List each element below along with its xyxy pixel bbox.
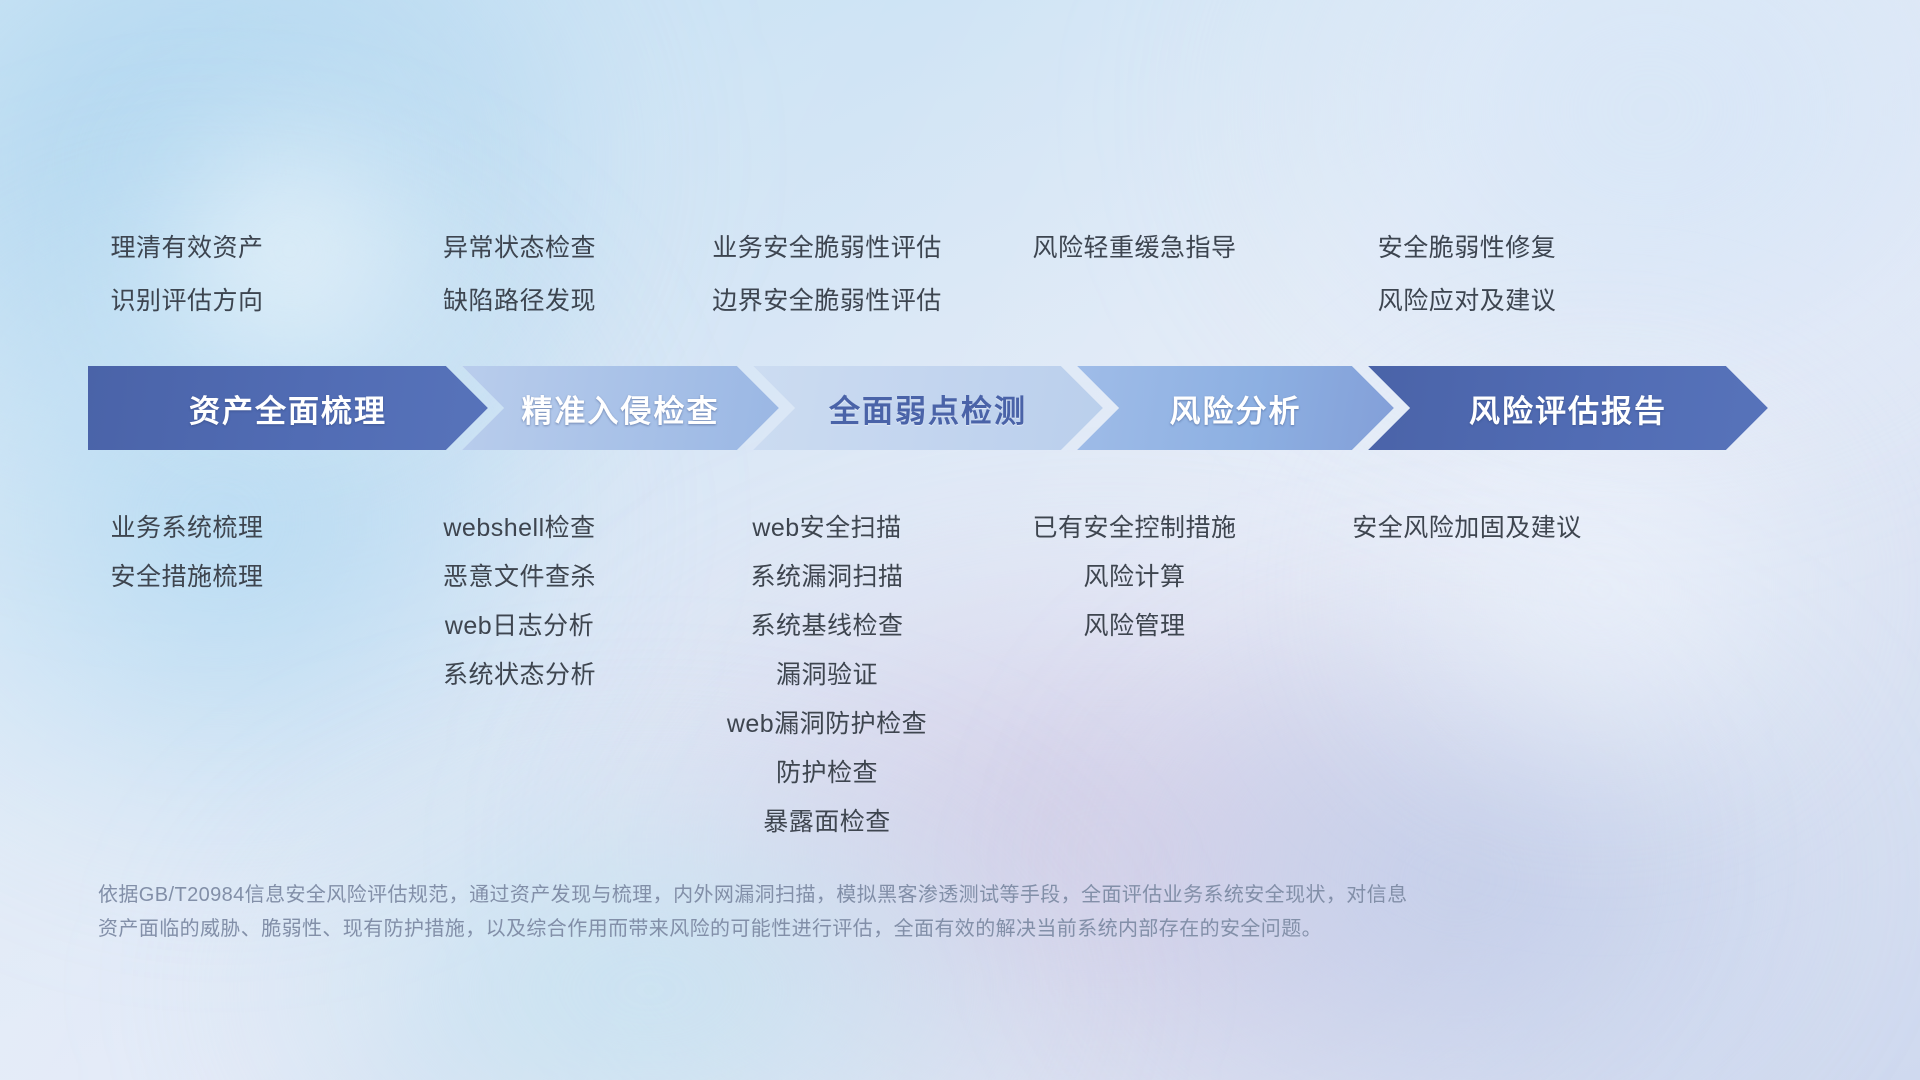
bottom-item: 安全措施梳理 — [0, 565, 374, 590]
process-diagram: 理清有效资产 识别评估方向 异常状态检查 缺陷路径发现 业务安全脆弱性评估 边界… — [0, 0, 1920, 1080]
bottom-item: 安全风险加固及建议 — [1280, 516, 1654, 541]
top-item: 风险应对及建议 — [1280, 289, 1654, 314]
bottom-items-risk-analysis: 已有安全控制措施 风险计算 风险管理 — [989, 516, 1280, 663]
bottom-item: 业务系统梳理 — [0, 516, 374, 541]
top-items-weakness-detection: 业务安全脆弱性评估 边界安全脆弱性评估 — [665, 236, 989, 342]
stage-arrow-asset-inventory[interactable]: 资产全面梳理 — [88, 366, 488, 450]
stage-arrow-band: 资产全面梳理 精准入侵检查 全面弱点检测 风险分析 风险评估报告 — [88, 366, 1850, 450]
top-item: 安全脆弱性修复 — [1280, 236, 1654, 261]
bottom-item: 系统基线检查 — [665, 614, 989, 639]
stage-arrow-label: 精准入侵检查 — [522, 386, 720, 431]
bottom-item: 漏洞验证 — [665, 663, 989, 688]
stage-arrow-risk-analysis[interactable]: 风险分析 — [1077, 366, 1394, 450]
stage-arrow-label: 风险分析 — [1170, 386, 1302, 431]
bottom-item: 风险计算 — [989, 565, 1280, 590]
top-items-risk-analysis: 风险轻重缓急指导 — [989, 236, 1280, 342]
bottom-item: 防护检查 — [665, 761, 989, 786]
footer-description: 依据GB/T20984信息安全风险评估规范，通过资产发现与梳理，内外网漏洞扫描，… — [98, 878, 1638, 946]
bottom-item: 风险管理 — [989, 614, 1280, 639]
bottom-items-weakness-detection: web安全扫描 系统漏洞扫描 系统基线检查 漏洞验证 web漏洞防护检查 防护检… — [665, 516, 989, 859]
top-item: 业务安全脆弱性评估 — [665, 236, 989, 261]
top-item: 理清有效资产 — [0, 236, 374, 261]
top-items-asset-inventory: 理清有效资产 识别评估方向 — [0, 236, 374, 342]
bottom-item: webshell检查 — [374, 516, 665, 541]
bottom-items-asset-inventory: 业务系统梳理 安全措施梳理 — [0, 516, 374, 614]
bottom-item: 暴露面检查 — [665, 810, 989, 835]
bottom-item: 系统状态分析 — [374, 663, 665, 688]
bottom-item: web漏洞防护检查 — [665, 712, 989, 737]
stage-arrow-label: 全面弱点检测 — [829, 386, 1027, 431]
bottom-item: web日志分析 — [374, 614, 665, 639]
bottom-items-row: 业务系统梳理 安全措施梳理 webshell检查 恶意文件查杀 web日志分析 … — [0, 516, 1920, 859]
top-item: 风险轻重缓急指导 — [989, 236, 1280, 261]
bottom-item: 已有安全控制措施 — [989, 516, 1280, 541]
top-item: 边界安全脆弱性评估 — [665, 289, 989, 314]
bottom-item: web安全扫描 — [665, 516, 989, 541]
bottom-items-intrusion-check: webshell检查 恶意文件查杀 web日志分析 系统状态分析 — [374, 516, 665, 712]
stage-arrow-risk-report[interactable]: 风险评估报告 — [1368, 366, 1768, 450]
top-item: 异常状态检查 — [374, 236, 665, 261]
bottom-item: 系统漏洞扫描 — [665, 565, 989, 590]
bottom-item: 恶意文件查杀 — [374, 565, 665, 590]
stage-arrow-label: 风险评估报告 — [1469, 386, 1667, 431]
footer-line: 依据GB/T20984信息安全风险评估规范，通过资产发现与梳理，内外网漏洞扫描，… — [98, 878, 1638, 912]
stage-arrow-label: 资产全面梳理 — [189, 386, 387, 431]
top-item: 识别评估方向 — [0, 289, 374, 314]
top-items-risk-report: 安全脆弱性修复 风险应对及建议 — [1280, 236, 1654, 342]
top-item: 缺陷路径发现 — [374, 289, 665, 314]
top-items-intrusion-check: 异常状态检查 缺陷路径发现 — [374, 236, 665, 342]
footer-line: 资产面临的威胁、脆弱性、现有防护措施，以及综合作用而带来风险的可能性进行评估，全… — [98, 912, 1638, 946]
top-items-row: 理清有效资产 识别评估方向 异常状态检查 缺陷路径发现 业务安全脆弱性评估 边界… — [0, 236, 1920, 342]
bottom-items-risk-report: 安全风险加固及建议 — [1280, 516, 1654, 565]
stage-arrow-weakness-detection[interactable]: 全面弱点检测 — [753, 366, 1103, 450]
stage-arrow-intrusion-check[interactable]: 精准入侵检查 — [462, 366, 779, 450]
